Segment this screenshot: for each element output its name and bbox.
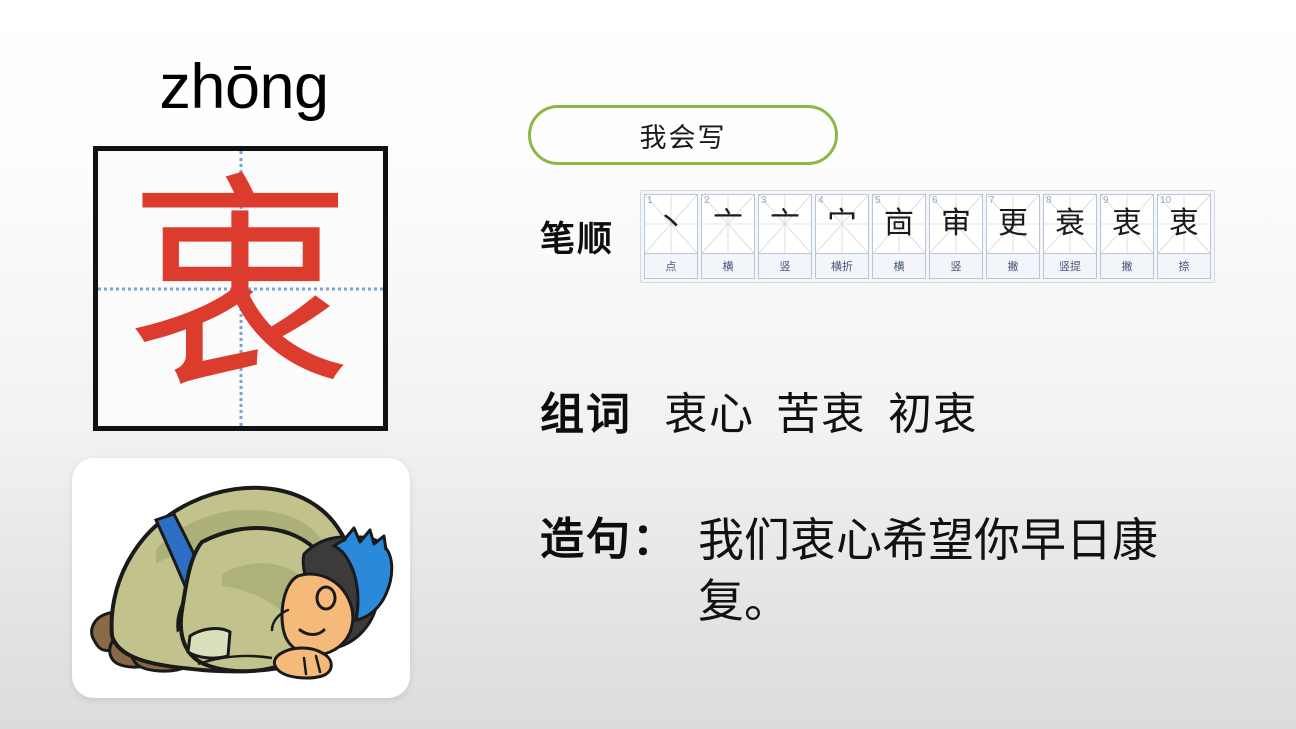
stroke-glyph: 丶 xyxy=(656,209,686,239)
main-character: 衷 xyxy=(98,151,383,426)
stroke-number: 1 xyxy=(647,195,653,206)
stroke-cell[interactable]: 10衷捺 xyxy=(1157,194,1211,279)
stroke-name-label: 点 xyxy=(645,253,697,278)
stroke-name-label: 横折 xyxy=(816,253,868,278)
left-column: zhōng 衷 xyxy=(0,0,470,729)
stroke-glyph: 审 xyxy=(941,209,971,239)
stroke-glyph: 衷 xyxy=(1169,209,1199,239)
stroke-cell-grid: 5㐭 xyxy=(873,195,925,253)
stroke-cell[interactable]: 6审竖 xyxy=(929,194,983,279)
stroke-cell[interactable]: 2亠横 xyxy=(701,194,755,279)
bowing-person-illustration xyxy=(72,458,410,698)
sentence-section: 造句： 我们衷心希望你早日康复。 xyxy=(540,510,1238,631)
stroke-name-label: 横 xyxy=(873,253,925,278)
stroke-name-label: 撇 xyxy=(987,253,1039,278)
words-list: 衷心苦衷初衷 xyxy=(664,378,978,442)
right-column: 我会写 笔顺 1丶点2亠横3亠竖4宀横折5㐭横6审竖7更撇8衰竖提9衷撇10衷捺… xyxy=(470,0,1296,729)
stroke-glyph: 衷 xyxy=(1112,209,1142,239)
word-item: 苦衷 xyxy=(776,390,866,439)
stroke-glyph: 㐭 xyxy=(884,209,914,239)
stroke-cell[interactable]: 8衰竖提 xyxy=(1043,194,1097,279)
stroke-name-label: 横 xyxy=(702,253,754,278)
stroke-number: 8 xyxy=(1046,195,1052,206)
stroke-cell[interactable]: 5㐭横 xyxy=(872,194,926,279)
sentence-label: 造句： xyxy=(540,510,678,569)
stroke-order-label: 笔顺 xyxy=(540,211,614,262)
stroke-cell-grid: 8衰 xyxy=(1044,195,1096,253)
stroke-number: 5 xyxy=(875,195,881,206)
stroke-cell[interactable]: 9衷撇 xyxy=(1100,194,1154,279)
sentence-text: 我们衷心希望你早日康复。 xyxy=(698,510,1238,631)
stroke-cell-grid: 10衷 xyxy=(1158,195,1210,253)
stroke-name-label: 竖 xyxy=(930,253,982,278)
slide-root: zhōng 衷 xyxy=(0,0,1296,729)
stroke-number: 9 xyxy=(1103,195,1109,206)
stroke-cell-grid: 9衷 xyxy=(1101,195,1153,253)
stroke-cell-grid: 4宀 xyxy=(816,195,868,253)
stroke-cell[interactable]: 7更撇 xyxy=(986,194,1040,279)
stroke-order-strip: 1丶点2亠横3亠竖4宀横折5㐭横6审竖7更撇8衰竖提9衷撇10衷捺 xyxy=(640,190,1215,283)
stroke-cell-grid: 3亠 xyxy=(759,195,811,253)
words-section: 组词 衷心苦衷初衷 xyxy=(540,378,978,442)
stroke-number: 3 xyxy=(761,195,767,206)
stroke-number: 7 xyxy=(989,195,995,206)
stroke-cell-grid: 6审 xyxy=(930,195,982,253)
stroke-name-label: 捺 xyxy=(1158,253,1210,278)
pinyin-text: zhōng xyxy=(96,56,392,119)
word-item: 初衷 xyxy=(888,390,978,439)
stroke-number: 4 xyxy=(818,195,824,206)
section-badge-i-can-write: 我会写 xyxy=(528,105,838,165)
stroke-number: 2 xyxy=(704,195,710,206)
stroke-glyph: 更 xyxy=(998,209,1028,239)
stroke-cell[interactable]: 1丶点 xyxy=(644,194,698,279)
character-grid-box: 衷 xyxy=(93,146,388,431)
stroke-order-section: 笔顺 1丶点2亠横3亠竖4宀横折5㐭横6审竖7更撇8衰竖提9衷撇10衷捺 xyxy=(540,190,1215,283)
stroke-cell[interactable]: 4宀横折 xyxy=(815,194,869,279)
stroke-name-label: 竖提 xyxy=(1044,253,1096,278)
words-label: 组词 xyxy=(540,378,632,442)
stroke-cell-grid: 2亠 xyxy=(702,195,754,253)
stroke-cell-grid: 1丶 xyxy=(645,195,697,253)
stroke-glyph: 亠 xyxy=(770,209,800,239)
stroke-number: 6 xyxy=(932,195,938,206)
stroke-name-label: 撇 xyxy=(1101,253,1153,278)
word-item: 衷心 xyxy=(664,390,754,439)
stroke-number: 10 xyxy=(1160,195,1171,206)
stroke-glyph: 衰 xyxy=(1055,209,1085,239)
stroke-cell-grid: 7更 xyxy=(987,195,1039,253)
stroke-glyph: 宀 xyxy=(827,209,857,239)
stroke-glyph: 亠 xyxy=(713,209,743,239)
stroke-name-label: 竖 xyxy=(759,253,811,278)
stroke-cell[interactable]: 3亠竖 xyxy=(758,194,812,279)
illustration-card xyxy=(72,458,410,698)
